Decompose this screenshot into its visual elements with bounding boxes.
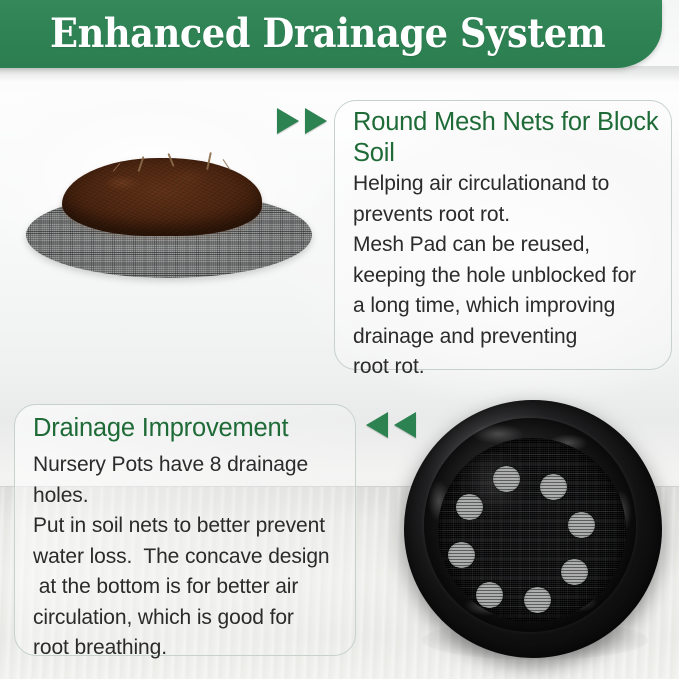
drainage-hole <box>524 587 551 613</box>
card-line: a long time, which improving <box>353 291 671 322</box>
drainage-hole <box>476 582 503 608</box>
header-drop-shadow <box>0 66 679 82</box>
triangle-right-icon <box>277 108 299 134</box>
card-title-drainage-improvement: Drainage Improvement <box>33 413 345 444</box>
card-line: Helping air circulationand to <box>353 169 671 200</box>
drainage-hole <box>540 474 567 500</box>
card-line: circulation, which is good for <box>33 603 357 634</box>
triangle-left-icon <box>394 412 416 438</box>
card-line: water loss. The concave design <box>33 542 357 573</box>
card-line: Nursery Pots have 8 drainage <box>33 450 357 481</box>
card-line: holes. <box>33 481 357 512</box>
drainage-hole <box>568 512 595 538</box>
drainage-hole <box>561 559 588 585</box>
infographic-page: Enhanced Drainage System Round Mesh Nets… <box>0 0 679 679</box>
drainage-hole <box>448 542 475 568</box>
triangle-right-icon <box>305 108 327 134</box>
drainage-hole <box>493 466 520 492</box>
card-body-drainage-improvement: Nursery Pots have 8 drainage holes. Put … <box>33 450 357 664</box>
soil-pile <box>62 158 262 236</box>
nursery-pot-bottom-photo <box>398 394 670 666</box>
info-card-drainage-improvement: Drainage Improvement Nursery Pots have 8… <box>14 404 356 656</box>
card-line: keeping the hole unblocked for <box>353 261 671 292</box>
arrows-right-pair <box>277 108 327 134</box>
page-title: Enhanced Drainage System <box>50 3 605 65</box>
card-line: at the bottom is for better air <box>33 572 357 603</box>
card-body-mesh-nets: Helping air circulationand to prevents r… <box>353 169 671 383</box>
card-title-mesh-nets: Round Mesh Nets for Block Soil <box>353 107 661 169</box>
triangle-left-icon <box>366 412 388 438</box>
drainage-hole <box>456 494 483 520</box>
card-line: root rot. <box>353 352 671 383</box>
card-line: root breathing. <box>33 633 357 664</box>
card-line: prevents root rot. <box>353 200 671 231</box>
header-banner: Enhanced Drainage System <box>0 0 662 68</box>
info-card-mesh-nets: Round Mesh Nets for Block Soil Helping a… <box>334 100 672 370</box>
arrows-left-pair <box>366 412 416 438</box>
card-line: Put in soil nets to better prevent <box>33 511 357 542</box>
soil-texture <box>62 158 262 236</box>
mesh-net-with-soil-photo <box>12 150 324 300</box>
card-line: Mesh Pad can be reused, <box>353 230 671 261</box>
card-line: drainage and preventing <box>353 322 671 353</box>
